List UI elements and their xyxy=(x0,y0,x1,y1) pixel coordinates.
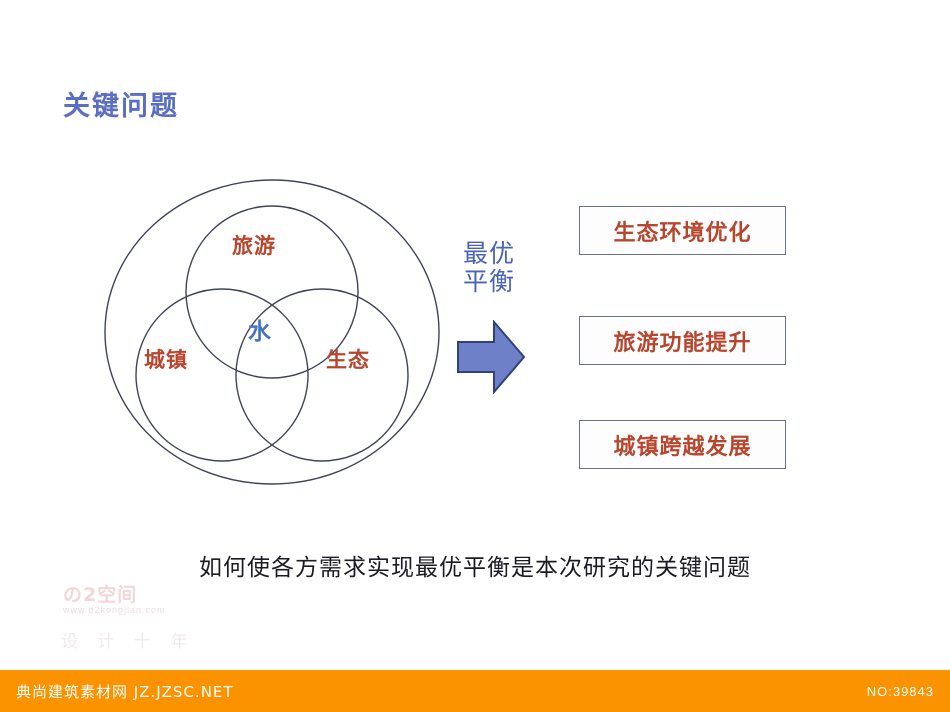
outcome-label: 城镇跨越发展 xyxy=(613,429,751,461)
right-arrow-icon-svg xyxy=(456,320,526,394)
venn-label-town: 城镇 xyxy=(144,344,188,374)
optimal-balance-line-1: 最优 xyxy=(456,240,522,268)
optimal-balance-line-2: 平衡 xyxy=(456,268,522,296)
venn-label-water: 水 xyxy=(248,312,271,346)
watermark-subtitle: 设 计 十 年 xyxy=(61,627,194,652)
slide-canvas: 关键问题 旅游 城镇 生态 水 最优 平衡 生态环境优化 旅游功能提升 xyxy=(0,0,950,712)
watermark: の2空间 www.d2kongjian.com 设 计 十 年 xyxy=(57,572,185,657)
outcome-label: 旅游功能提升 xyxy=(613,325,751,357)
page-title: 关键问题 xyxy=(63,84,179,123)
outcome-box-tourism[interactable]: 旅游功能提升 xyxy=(579,316,786,365)
footer-site-name: 典尚建筑素材网 JZ.JZSC.NET xyxy=(16,681,234,702)
outcome-box-town[interactable]: 城镇跨越发展 xyxy=(579,420,786,469)
venn-label-tourism: 旅游 xyxy=(232,230,276,260)
venn-diagram: 旅游 城镇 生态 水 xyxy=(98,170,446,490)
right-arrow-shape xyxy=(458,322,524,392)
venn-label-ecology: 生态 xyxy=(326,344,370,374)
right-arrow-icon xyxy=(456,320,526,394)
watermark-logo: の2空间 xyxy=(63,580,137,607)
footer-bar: 典尚建筑素材网 JZ.JZSC.NET NO:39843 xyxy=(0,670,950,712)
venn-circle-town xyxy=(136,289,308,461)
watermark-url: www.d2kongjian.com xyxy=(63,605,166,615)
venn-outer-ellipse xyxy=(105,180,439,484)
venn-diagram-svg xyxy=(98,170,446,490)
footer-asset-number: NO:39843 xyxy=(867,684,934,699)
outcome-label: 生态环境优化 xyxy=(613,215,751,247)
outcome-box-ecology[interactable]: 生态环境优化 xyxy=(579,206,786,255)
optimal-balance-label: 最优 平衡 xyxy=(456,240,522,296)
slide-caption: 如何使各方需求实现最优平衡是本次研究的关键问题 xyxy=(0,548,950,582)
